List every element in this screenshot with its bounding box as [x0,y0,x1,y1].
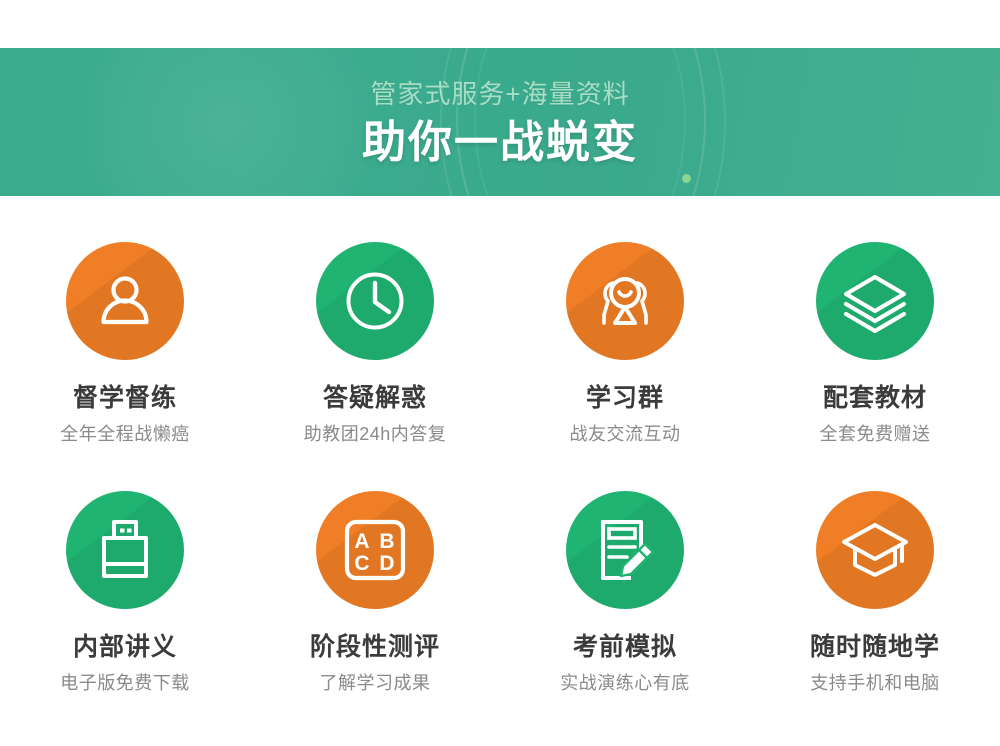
feature-subtitle: 了解学习成果 [320,674,431,692]
feature-icon-circle: A B C D [316,491,434,609]
feature-icon-circle [566,242,684,360]
feature-icon-circle [66,491,184,609]
banner-subtitle: 管家式服务+海量资料 [370,81,629,107]
feature-subtitle: 战友交流互动 [570,425,681,443]
feature-item-clock[interactable]: 答疑解惑 助教团24h内答复 [250,242,500,443]
document-pencil-icon [593,518,657,582]
feature-title: 配套教材 [823,386,927,411]
feature-icon-circle [66,242,184,360]
layers-stack-icon [840,269,910,333]
feature-subtitle: 支持手机和电脑 [810,674,940,692]
svg-text:B: B [379,530,394,553]
feature-title: 学习群 [586,386,664,411]
feature-icon-circle [816,242,934,360]
usb-drive-icon [97,518,153,582]
svg-text:A: A [354,530,369,553]
feature-item-layers[interactable]: 配套教材 全套免费赠送 [750,242,1000,443]
feature-row: 内部讲义 电子版免费下载 A B C D 阶段性测评 了解学习成果 [0,491,1000,692]
person-icon [94,270,156,332]
feature-title: 阶段性测评 [310,635,440,660]
hero-banner: 管家式服务+海量资料 助你一战蜕变 [0,48,1000,196]
feature-title: 答疑解惑 [323,386,427,411]
feature-title: 内部讲义 [73,635,177,660]
feature-title: 随时随地学 [810,635,940,660]
banner-title: 助你一战蜕变 [362,121,638,165]
feature-subtitle: 助教团24h内答复 [304,425,447,443]
svg-text:D: D [379,552,394,575]
promo-page: 管家式服务+海量资料 助你一战蜕变 督学督练 全年全程战懒癌 [0,0,1000,746]
feature-icon-circle [816,491,934,609]
feature-row: 督学督练 全年全程战懒癌 答疑解惑 助教团24h内答复 [0,242,1000,443]
feature-item-graduation[interactable]: 随时随地学 支持手机和电脑 [750,491,1000,692]
abcd-quiz-icon: A B C D [343,518,407,582]
svg-text:C: C [354,552,369,575]
clock-icon [343,269,407,333]
feature-icon-circle [566,491,684,609]
feature-subtitle: 全套免费赠送 [820,425,931,443]
feature-subtitle: 实战演练心有底 [560,674,690,692]
feature-item-exam[interactable]: 考前模拟 实战演练心有底 [500,491,750,692]
feature-icon-circle [316,242,434,360]
feature-title: 考前模拟 [573,635,677,660]
feature-subtitle: 全年全程战懒癌 [60,425,190,443]
feature-item-quiz[interactable]: A B C D 阶段性测评 了解学习成果 [250,491,500,692]
feature-item-person[interactable]: 督学督练 全年全程战懒癌 [0,242,250,443]
feature-grid: 督学督练 全年全程战懒癌 答疑解惑 助教团24h内答复 [0,196,1000,692]
feature-item-usb[interactable]: 内部讲义 电子版免费下载 [0,491,250,692]
feature-subtitle: 电子版免费下载 [60,674,190,692]
people-group-icon [590,269,660,333]
banner-content: 管家式服务+海量资料 助你一战蜕变 [0,48,1000,196]
feature-item-group[interactable]: 学习群 战友交流互动 [500,242,750,443]
feature-title: 督学督练 [73,386,177,411]
graduation-cap-icon [840,521,910,579]
